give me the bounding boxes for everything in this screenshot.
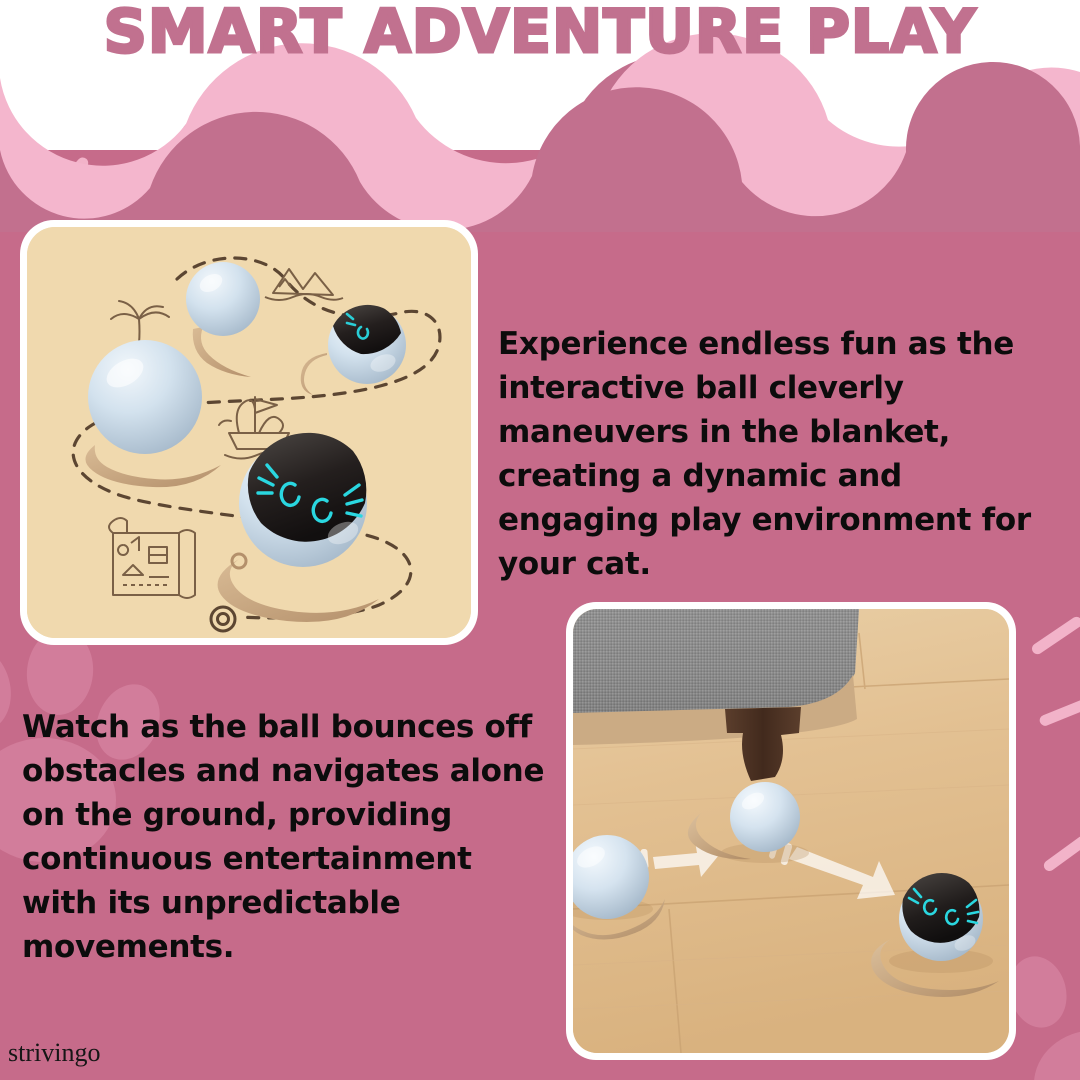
page-title: SMART ADVENTURE PLAY [0, 2, 1080, 62]
description-text-right: Experience endless fun as the interactiv… [498, 322, 1058, 586]
decor-dash-3 [1030, 615, 1080, 657]
adventure-map-scene [27, 227, 471, 638]
description-text-left: Watch as the ball bounces off obstacles … [22, 705, 552, 969]
illustration-image [27, 227, 471, 638]
sofa-fabric-shade [573, 609, 859, 717]
decor-dash-5 [1042, 834, 1080, 873]
brand-watermark: strivingo [8, 1038, 100, 1068]
header-banner: SMART ADVENTURE PLAY [0, 0, 1080, 232]
poster-canvas: SMART ADVENTURE PLAY [0, 0, 1080, 1080]
floor-scene-photo [573, 609, 1009, 1053]
photo-image [573, 609, 1009, 1053]
photo-panel [566, 602, 1016, 1060]
illustration-panel [20, 220, 478, 645]
decor-dash-4 [1038, 696, 1080, 728]
